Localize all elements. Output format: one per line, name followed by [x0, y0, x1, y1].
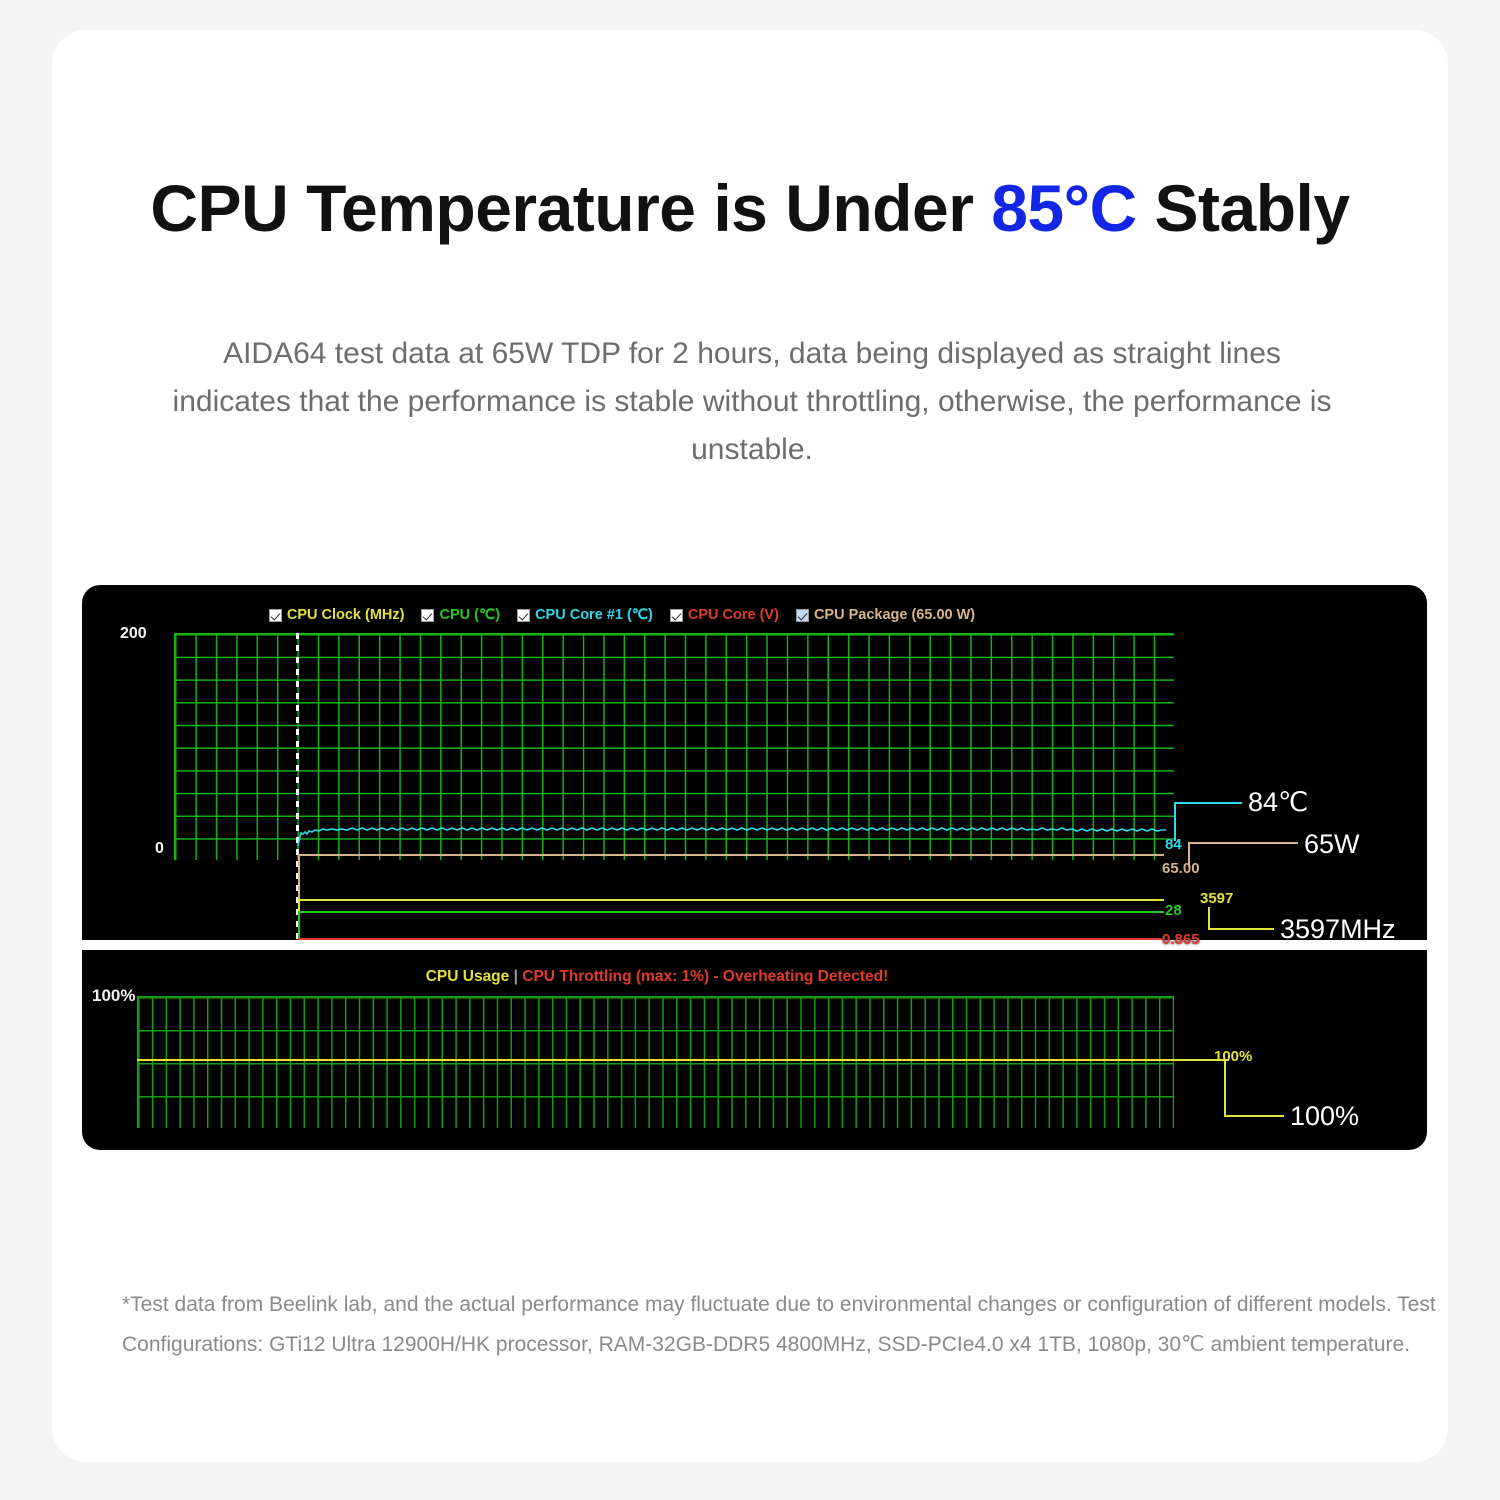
throttling-warning-label: CPU Throttling (max: 1%) - Overheating D… [522, 968, 888, 985]
legend-label-cpu-core1-temp: CPU Core #1 (℃) [535, 607, 653, 623]
title-text-after: Stably [1137, 171, 1350, 245]
trace-cpu-temp [298, 911, 1164, 913]
content-card: CPU Temperature is Under 85°C Stably AID… [52, 30, 1448, 1462]
trace-cpu-usage [137, 1059, 1229, 1061]
checkbox-cpu-clock[interactable] [269, 609, 282, 622]
legend-label-cpu-core-voltage: CPU Core (V) [688, 607, 779, 623]
leader-line-temp-horizontal [1174, 802, 1242, 804]
usage-header-separator: | [514, 968, 518, 985]
trace-cpu-core1-temp [296, 825, 1166, 847]
trace-cpu-package [298, 854, 1164, 856]
leader-line-temp-vertical [1174, 802, 1176, 841]
checkbox-cpu-temp[interactable] [421, 609, 434, 622]
callout-cpu-clock: 3597MHz [1280, 914, 1396, 945]
core-temp-waveform [296, 825, 1166, 847]
legend-item-cpu-package[interactable]: CPU Package (65.00 W) [796, 607, 975, 623]
legend-item-cpu-core-voltage[interactable]: CPU Core (V) [670, 607, 779, 623]
readout-cpu-clock: 3597 [1200, 890, 1233, 907]
readout-cpu-temp: 28 [1165, 902, 1182, 919]
callout-cpu-power: 65W [1304, 829, 1360, 860]
legend-label-cpu-temp: CPU (℃) [439, 607, 500, 623]
readout-cpu-package: 65.00 [1162, 860, 1200, 877]
trace-ramp-cpu-temp [298, 911, 300, 940]
leader-line-clock-vertical [1208, 907, 1210, 929]
readout-cpu-usage: 100% [1214, 1048, 1252, 1065]
legend-label-cpu-clock: CPU Clock (MHz) [287, 607, 405, 623]
usage-y-axis-max-label: 100% [92, 986, 135, 1006]
leader-line-power-horizontal [1188, 842, 1298, 844]
checkbox-cpu-package[interactable] [796, 609, 809, 622]
legend-item-cpu-core1-temp[interactable]: CPU Core #1 (℃) [517, 607, 653, 623]
legend-label-cpu-package: CPU Package (65.00 W) [814, 607, 975, 623]
title-accent-temperature: 85°C [991, 171, 1136, 245]
legend-item-cpu-clock[interactable]: CPU Clock (MHz) [269, 607, 405, 623]
page-title: CPU Temperature is Under 85°C Stably [52, 170, 1448, 246]
trace-cpu-core-voltage [298, 938, 1164, 940]
callout-cpu-temperature: 84℃ [1248, 787, 1308, 818]
leader-line-clock-horizontal [1208, 928, 1274, 930]
legend-item-cpu-temp[interactable]: CPU (℃) [421, 607, 500, 623]
usage-chart-header: CPU Usage | CPU Throttling (max: 1%) - O… [82, 968, 1232, 986]
y-axis-min-label: 0 [155, 840, 164, 858]
usage-plot-grid [137, 996, 1174, 1128]
leader-line-power-vertical [1188, 842, 1190, 867]
trace-cpu-clock [298, 899, 1164, 901]
leader-line-usage-vertical [1224, 1060, 1226, 1116]
sensor-chart-panel: CPU Clock (MHz) CPU (℃) CPU Core #1 (℃) … [82, 585, 1427, 940]
sensor-chart-legend: CPU Clock (MHz) CPU (℃) CPU Core #1 (℃) … [82, 607, 1162, 623]
usage-header-label: CPU Usage [426, 968, 510, 985]
leader-line-usage-horizontal [1224, 1115, 1284, 1117]
readout-cpu-core-voltage: 0.865 [1162, 931, 1200, 948]
callout-cpu-usage: 100% [1290, 1101, 1359, 1132]
page-subtitle: AIDA64 test data at 65W TDP for 2 hours,… [162, 330, 1342, 474]
title-text-before: CPU Temperature is Under [150, 171, 991, 245]
checkbox-cpu-core1-temp[interactable] [517, 609, 530, 622]
footnote-text: *Test data from Beelink lab, and the act… [122, 1285, 1452, 1365]
y-axis-max-label: 200 [120, 625, 147, 643]
checkbox-cpu-core-voltage[interactable] [670, 609, 683, 622]
